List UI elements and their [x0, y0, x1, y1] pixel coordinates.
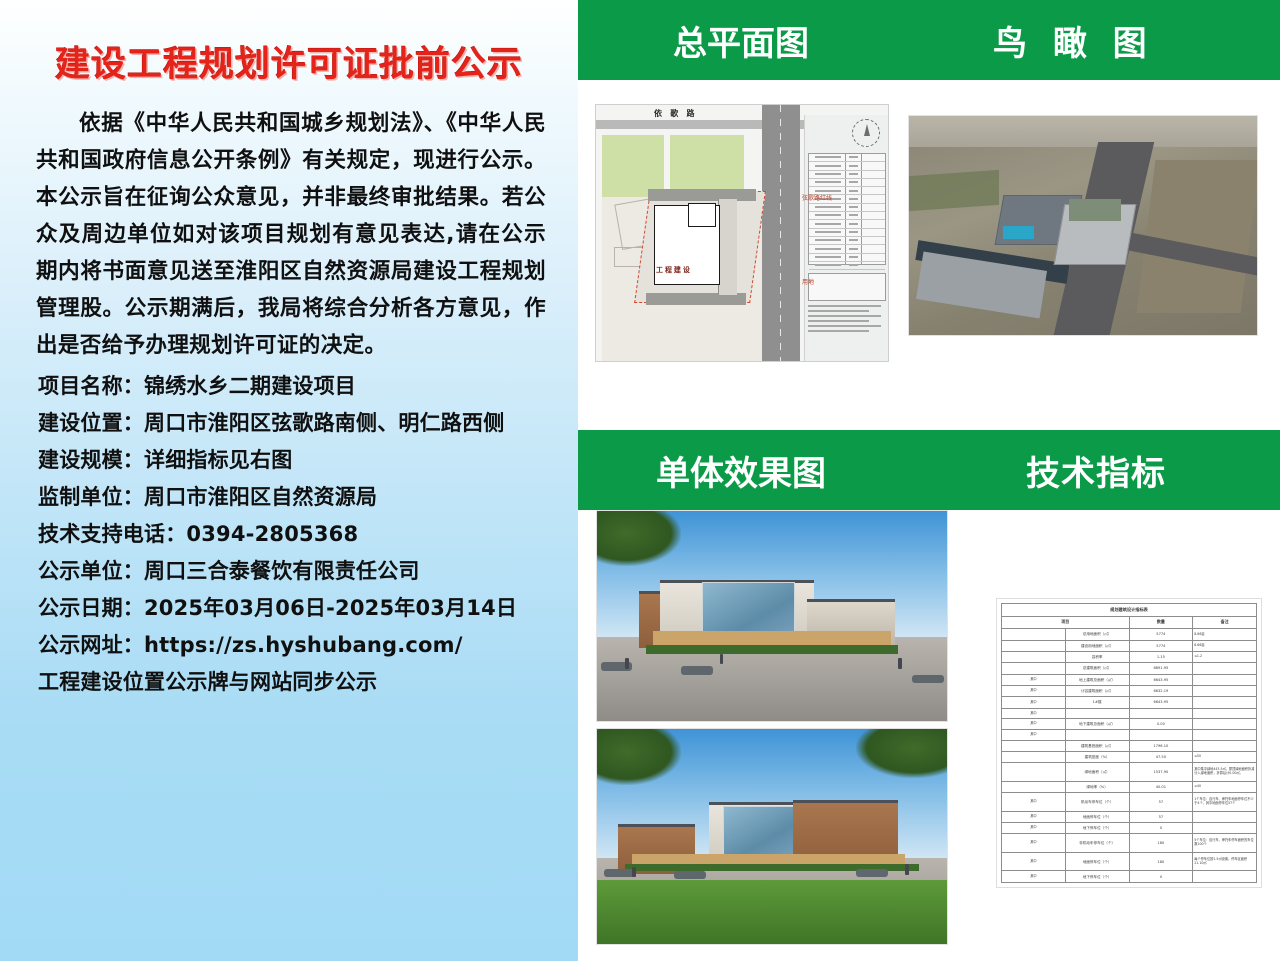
band-mid: 单体效果图 技术指标 [578, 430, 1280, 510]
table-row [809, 229, 885, 237]
table-row: 总建筑面积（㎡）8891.95 [1002, 663, 1257, 674]
tech-cell-number: 5774 [1129, 629, 1193, 640]
info-row-support-phone: 技术支持电话：0394-2805368 [38, 516, 552, 553]
tech-header-remark: 备注 [1193, 616, 1257, 628]
tech-cell-item: 地下停车位（个） [1065, 823, 1129, 834]
info-label: 技术支持电话： [38, 522, 186, 546]
tech-cell-remark [1193, 730, 1257, 740]
info-row-scale: 建设规模：详细指标见右图 [38, 442, 552, 479]
tech-cell-group: 其中 [1002, 811, 1066, 822]
exhibits-panel: 总平面图 鸟 瞰 图 [578, 0, 1280, 961]
render-car [681, 666, 713, 674]
info-value: 周口市淮阳区自然资源局 [144, 485, 377, 509]
table-row [809, 245, 885, 253]
render-foreground-lawn [597, 880, 947, 945]
tech-header-num: 数量 [1129, 616, 1193, 628]
table-row: 其中地面停车位（个）57 [1002, 811, 1257, 822]
render-pedestrian [625, 658, 629, 669]
tech-cell-remark [1193, 719, 1257, 730]
page-title: 建设工程规划许可证批前公示 [16, 0, 562, 105]
table-row: 其中 [1002, 730, 1257, 740]
info-label: 公示单位： [38, 559, 144, 583]
tech-cell-item: 地下停车位（个） [1065, 871, 1129, 883]
info-row-publisher: 公示单位：周口三合泰餐饮有限责任公司 [38, 553, 552, 590]
info-value: 详细指标见右图 [144, 448, 292, 472]
table-row: 绿地率（%）40.01≥40 [1002, 781, 1257, 792]
tech-cell-group: 其中 [1002, 708, 1066, 718]
note-line [808, 305, 881, 307]
tech-cell-number: 57 [1129, 793, 1193, 811]
north-arrow-icon [852, 119, 880, 147]
tech-cell-group: 其中 [1002, 719, 1066, 730]
tech-cell-group: 其中 [1002, 852, 1066, 870]
tech-cell-group: 其中 [1002, 793, 1066, 811]
table-row [809, 254, 885, 262]
aerial-view-photo[interactable] [908, 115, 1258, 336]
tech-cell-item [1065, 708, 1129, 718]
tech-cell-number: 6632.19 [1129, 686, 1193, 697]
info-label: 公示日期： [38, 596, 144, 620]
tech-cell-remark: 其中集中绿地443.5㎡，屋顶绿地面积折减计入绿地面积，折算后计0.00㎡。 [1193, 763, 1257, 781]
tech-cell-number: 40.01 [1129, 781, 1193, 792]
info-label: 建设规模： [38, 448, 144, 472]
table-row [809, 179, 885, 187]
render-hedge [646, 645, 898, 653]
tech-cell-group [1002, 752, 1066, 763]
tech-cell-group [1002, 740, 1066, 751]
note-line [808, 310, 869, 312]
notice-panel: 建设工程规划许可证批前公示 依据《中华人民共和国城乡规划法》、《中华人民共和国政… [0, 0, 578, 961]
tech-cell-group [1002, 629, 1066, 640]
tech-cell-item: 总建筑面积（㎡） [1065, 663, 1129, 674]
tech-cell-number [1129, 708, 1193, 718]
tech-cell-item: 总用地面积（㎡） [1065, 629, 1129, 640]
aerial-pool [1003, 226, 1034, 239]
band-title-aerial-view: 鸟 瞰 图 [993, 16, 1154, 65]
tech-header-item: 项目 [1002, 616, 1130, 628]
tech-cell-remark [1193, 740, 1257, 751]
tech-cell-remark: 1个车位：自行车、摩托车地面停车位不少于4个，其中地面停车位57个 [1193, 793, 1257, 811]
tech-table: 规划建筑设计指标表 项目 数量 备注 总用地面积（㎡）57748.66亩建设用地… [1001, 603, 1257, 883]
table-row: 其中地下建筑总面积（㎡）0.00 [1002, 719, 1257, 730]
band-title-tech-indicators: 技术指标 [1026, 446, 1166, 495]
tech-cell-number: 180 [1129, 834, 1193, 852]
site-plan-notes-block [808, 305, 884, 345]
tech-cell-group [1002, 663, 1066, 674]
tech-cell-remark: ≤1.2 [1193, 651, 1257, 662]
info-label: 公示网址： [38, 633, 144, 657]
table-row: 其中非机动车停车位（个）1805个车位：自行车、摩托车停车面积的车位数100个 [1002, 834, 1257, 852]
info-row-project-name: 项目名称：锦绣水乡二期建设项目 [38, 368, 552, 405]
table-row [809, 162, 885, 170]
render-car [674, 871, 706, 880]
note-line [808, 330, 869, 332]
tech-cell-remark: 每个停车位按1.5㎡设置，停车区面积21.10㎡ [1193, 852, 1257, 870]
site-plan-index-table [808, 153, 886, 265]
tech-cell-remark [1193, 823, 1257, 834]
aerial-roof-garden [1069, 199, 1121, 221]
table-row: 绿地面积（㎡）1537.90其中集中绿地443.5㎡，屋顶绿地面积折减计入绿地面… [1002, 763, 1257, 781]
table-row [809, 237, 885, 245]
tech-cell-remark: ≤50 [1193, 752, 1257, 763]
site-plan-green-area-west [602, 135, 664, 197]
tech-cell-group [1002, 781, 1066, 792]
tech-cell-remark [1193, 871, 1257, 883]
tech-cell-group: 其中 [1002, 730, 1066, 740]
note-line [808, 325, 881, 327]
table-row: 建筑基底面积（㎡）1796.10 [1002, 740, 1257, 751]
render-car [912, 675, 944, 683]
info-value: 周口三合泰餐饮有限责任公司 [144, 559, 420, 583]
publish-url-link[interactable]: https://zs.hyshubang.com/ [144, 633, 463, 657]
tech-cell-item: 地面停车位（个） [1065, 852, 1129, 870]
table-row [809, 171, 885, 179]
table-row: 其中1#楼6643.95 [1002, 697, 1257, 708]
tech-cell-remark: 8.66亩 [1193, 640, 1257, 651]
info-label: 建设位置： [38, 411, 144, 435]
site-plan-road-vertical [762, 105, 800, 361]
tech-cell-number: 0.00 [1129, 719, 1193, 730]
render-pedestrian [905, 864, 909, 875]
table-row: 建筑密度（%）47.50≤50 [1002, 752, 1257, 763]
tech-cell-item: 容积率 [1065, 651, 1129, 662]
tech-table-title: 规划建筑设计指标表 [1002, 604, 1257, 617]
tech-cell-number: 5774 [1129, 640, 1193, 651]
info-value: 周口市淮阳区弦歌路南侧、明仁路西侧 [144, 411, 504, 435]
tech-cell-remark [1193, 708, 1257, 718]
site-plan-drawing[interactable]: 依 歌 路 工 程 建 设 弦歌路红线 用地 [595, 104, 889, 362]
publicity-board: 建设工程规划许可证批前公示 依据《中华人民共和国城乡规划法》、《中华人民共和国政… [0, 0, 1280, 961]
tech-cell-item [1065, 730, 1129, 740]
tech-cell-remark [1193, 663, 1257, 674]
site-plan-parcel-label: 工 程 建 设 [656, 265, 690, 275]
tech-cell-item: 地上建筑总面积（㎡） [1065, 674, 1129, 685]
band-top: 总平面图 鸟 瞰 图 [578, 0, 1280, 80]
info-value: 2025年03月06日-2025年03月14日 [144, 596, 517, 620]
tech-indicators-table[interactable]: 规划建筑设计指标表 项目 数量 备注 总用地面积（㎡）57748.66亩建设用地… [996, 598, 1262, 888]
render-pedestrian [632, 867, 636, 878]
tech-cell-item: 非机动车停车位（个） [1065, 834, 1129, 852]
building-rendering-2[interactable] [596, 728, 948, 945]
site-plan-north-apron [648, 189, 756, 201]
tech-cell-group: 其中 [1002, 674, 1066, 685]
tech-table-title-row: 规划建筑设计指标表 [1002, 604, 1257, 617]
table-row [809, 220, 885, 228]
table-row: 总用地面积（㎡）57748.66亩 [1002, 629, 1257, 640]
render-pedestrian [898, 658, 902, 669]
table-row [809, 154, 885, 162]
site-plan-building-annex [688, 203, 716, 227]
site-plan-green-area-east [670, 135, 744, 197]
tech-cell-remark [1193, 697, 1257, 708]
tech-cell-number: 1796.10 [1129, 740, 1193, 751]
note-line [808, 320, 869, 322]
table-row: 容积率1.15≤1.2 [1002, 651, 1257, 662]
info-row-location: 建设位置：周口市淮阳区弦歌路南侧、明仁路西侧 [38, 405, 552, 442]
info-row-publish-date: 公示日期：2025年03月06日-2025年03月14日 [38, 590, 552, 627]
site-plan-dimension-bottom: 用地 [802, 277, 814, 286]
info-value: 0394-2805368 [186, 522, 358, 546]
tech-cell-group [1002, 651, 1066, 662]
site-plan-road-label: 依 歌 路 [654, 108, 697, 119]
tech-cell-item: 绿地率（%） [1065, 781, 1129, 792]
tech-cell-group: 其中 [1002, 871, 1066, 883]
tech-cell-item: 地下建筑总面积（㎡） [1065, 719, 1129, 730]
table-row: 其中地下停车位（个）0 [1002, 823, 1257, 834]
tech-cell-number: 8891.95 [1129, 663, 1193, 674]
render-foreground-tree-right [856, 728, 948, 778]
info-label: 项目名称： [38, 374, 144, 398]
tech-cell-number [1129, 730, 1193, 740]
table-row: 其中地上建筑总面积（㎡）6643.95 [1002, 674, 1257, 685]
tech-cell-number: 57 [1129, 811, 1193, 822]
site-plan-legend-table [808, 273, 886, 301]
table-row [809, 262, 885, 270]
tech-cell-item: 绿地面积（㎡） [1065, 763, 1129, 781]
tech-cell-remark: 5个车位：自行车、摩托车停车面积的车位数100个 [1193, 834, 1257, 852]
note-line [808, 315, 881, 317]
tech-cell-number: 1537.90 [1129, 763, 1193, 781]
tech-cell-number: 180 [1129, 852, 1193, 870]
tech-cell-item: 机动车停车位（个） [1065, 793, 1129, 811]
tech-cell-group: 其中 [1002, 697, 1066, 708]
tech-cell-item: 计容建筑面积（㎡） [1065, 686, 1129, 697]
info-row-footer: 工程建设位置公示牌与网站同步公示 [38, 664, 552, 701]
building-rendering-1[interactable] [596, 510, 948, 722]
tech-cell-group: 其中 [1002, 823, 1066, 834]
tech-cell-item: 建筑基底面积（㎡） [1065, 740, 1129, 751]
aerial-tree-belt [909, 170, 999, 211]
tech-cell-item: 1#楼 [1065, 697, 1129, 708]
tech-cell-number: 0 [1129, 823, 1193, 834]
project-info-list: 项目名称：锦绣水乡二期建设项目 建设位置：周口市淮阳区弦歌路南侧、明仁路西侧 建… [16, 368, 562, 701]
tech-cell-item: 建设用地面积（㎡） [1065, 640, 1129, 651]
info-row-publish-url[interactable]: 公示网址：https://zs.hyshubang.com/ [38, 627, 552, 664]
table-row: 其中 [1002, 708, 1257, 718]
tech-cell-remark [1193, 811, 1257, 822]
tech-cell-number: 47.50 [1129, 752, 1193, 763]
tech-cell-remark [1193, 674, 1257, 685]
notice-body-text: 依据《中华人民共和国城乡规划法》、《中华人民共和国政府信息公开条例》有关规定，现… [16, 105, 562, 364]
tech-cell-number: 1.15 [1129, 651, 1193, 662]
tech-cell-item: 建筑密度（%） [1065, 752, 1129, 763]
table-row [809, 212, 885, 220]
site-plan-dimension-top: 弦歌路红线 [802, 193, 832, 202]
tech-cell-group: 其中 [1002, 834, 1066, 852]
tech-cell-item: 地面停车位（个） [1065, 811, 1129, 822]
table-row: 其中计容建筑面积（㎡）6632.19 [1002, 686, 1257, 697]
info-label: 监制单位： [38, 485, 144, 509]
table-row: 其中地面停车位（个）180每个停车位按1.5㎡设置，停车区面积21.10㎡ [1002, 852, 1257, 870]
tech-cell-number: 6643.95 [1129, 697, 1193, 708]
render-foreground-tree-left [596, 728, 681, 785]
tech-cell-group [1002, 640, 1066, 651]
tech-cell-group: 其中 [1002, 686, 1066, 697]
table-row [809, 204, 885, 212]
render-pedestrian [720, 654, 724, 665]
table-row: 其中地下停车位（个）0 [1002, 871, 1257, 883]
tech-cell-remark [1193, 686, 1257, 697]
table-row: 建设用地面积（㎡）57748.66亩 [1002, 640, 1257, 651]
info-value: 锦绣水乡二期建设项目 [144, 374, 356, 398]
band-title-site-plan: 总平面图 [673, 16, 809, 65]
site-plan-east-apron [718, 199, 737, 295]
tech-cell-remark: 8.66亩 [1193, 629, 1257, 640]
tech-cell-group [1002, 763, 1066, 781]
tech-cell-number: 0 [1129, 871, 1193, 883]
band-title-building-rendering: 单体效果图 [656, 446, 826, 495]
table-row: 其中机动车停车位（个）571个车位：自行车、摩托车地面停车位不少于4个，其中地面… [1002, 793, 1257, 811]
tech-cell-number: 6643.95 [1129, 674, 1193, 685]
render-car [856, 869, 888, 878]
render-car [604, 869, 636, 878]
render-foreground-tree [596, 510, 681, 566]
tech-cell-remark: ≥40 [1193, 781, 1257, 792]
info-row-supervisor: 监制单位：周口市淮阳区自然资源局 [38, 479, 552, 516]
tech-table-header-row: 项目 数量 备注 [1002, 616, 1257, 628]
